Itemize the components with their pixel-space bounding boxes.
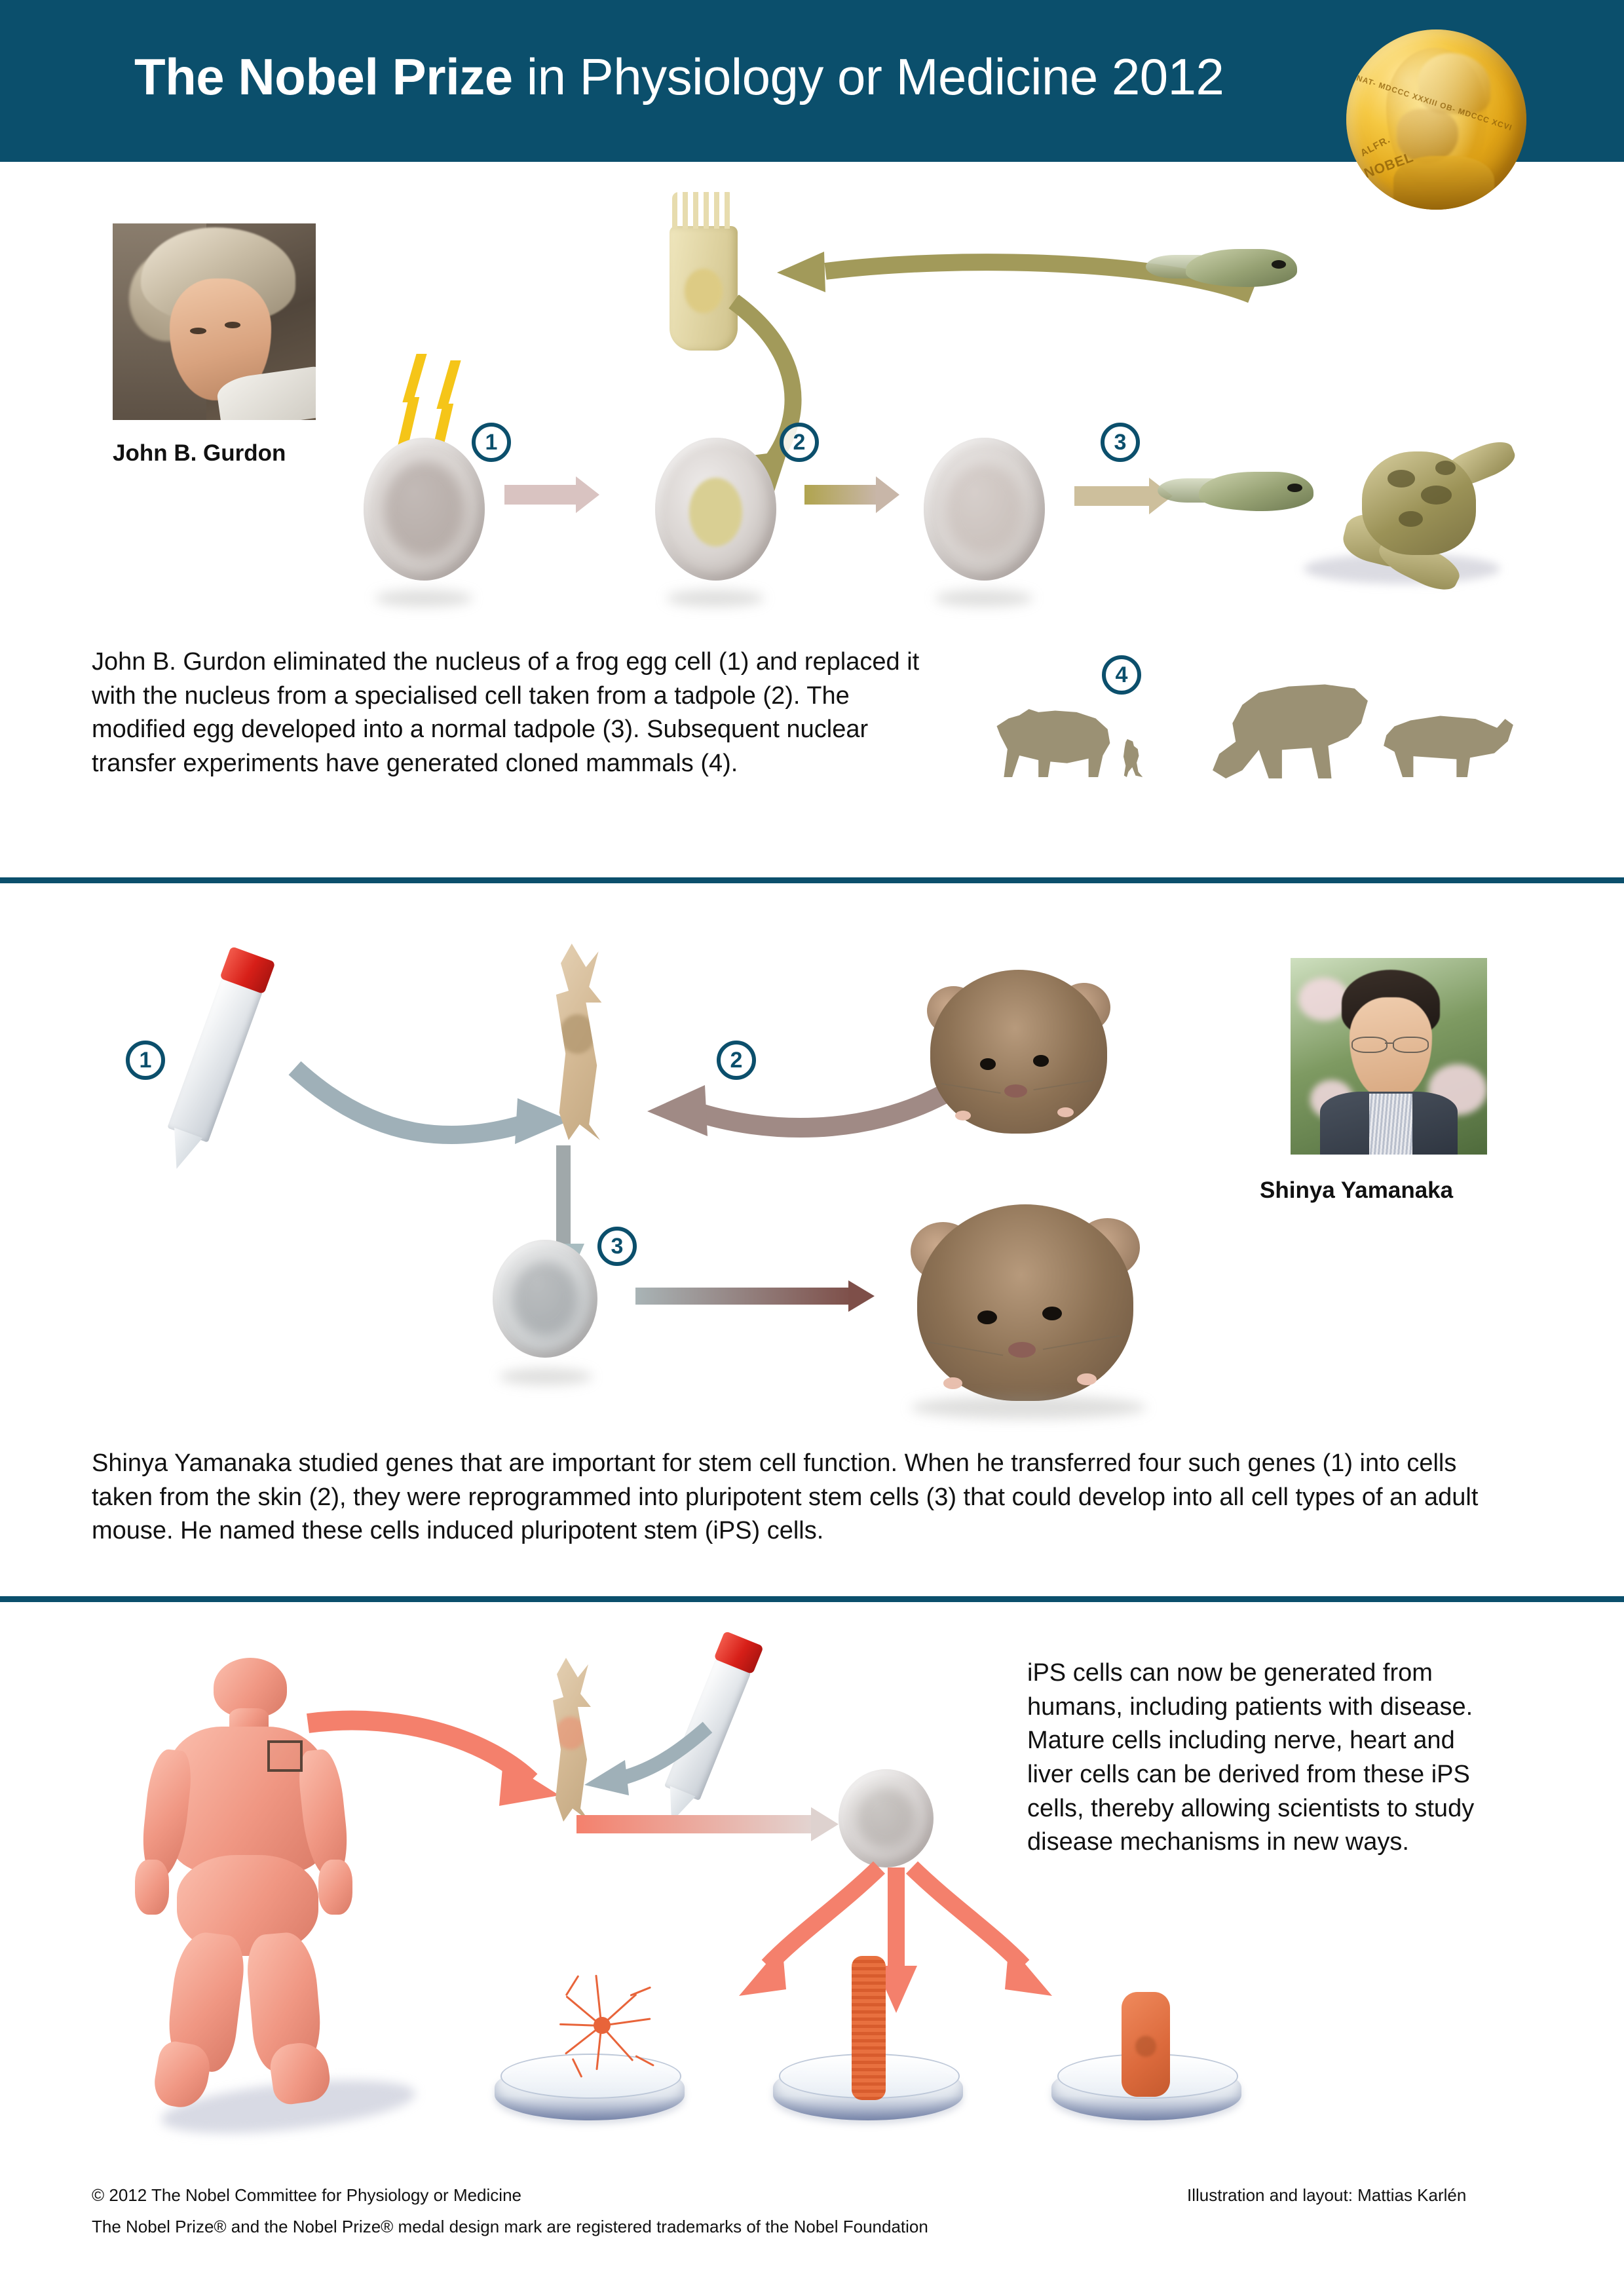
pluripotent-stem-cell	[493, 1240, 597, 1358]
egg-shadow-1	[375, 590, 473, 607]
mouse-shadow	[911, 1396, 1146, 1419]
cilia-icon	[672, 192, 735, 229]
footer-credit: Illustration and layout: Mattias Karlén	[1187, 2185, 1466, 2206]
arrow-stemcell-to-mouse	[635, 1288, 875, 1305]
panel3-ips-cell	[839, 1769, 934, 1867]
vial-tip	[161, 1128, 202, 1174]
panel2-step-marker-1: 1	[126, 1041, 165, 1080]
step-marker-4: 4	[1102, 655, 1141, 695]
step-marker-1: 1	[472, 423, 511, 462]
panel3-vial-cap	[713, 1631, 764, 1675]
mouse-silhouette	[1116, 739, 1144, 777]
panel1-caption: John B. Gurdon eliminated the nucleus of…	[92, 645, 943, 781]
adult-frog	[1336, 429, 1520, 586]
infographic-page: The Nobel Prize in Physiology or Medicin…	[0, 0, 1624, 2296]
medal-inscription-alfr: ALFR.	[1359, 134, 1392, 159]
gene-vial	[167, 974, 264, 1142]
page-title-bold: The Nobel Prize	[134, 48, 513, 105]
footer-trademark: The Nobel Prize® and the Nobel Prize® me…	[92, 2217, 928, 2237]
nobel-medal-icon: ALFR. NOBEL NAT- MDCCC XXXIII OB- MDCCC …	[1346, 29, 1526, 210]
gurdon-name-label: John B. Gurdon	[113, 440, 286, 467]
egg-shadow-2	[666, 590, 765, 607]
panel2-step-marker-2: 2	[717, 1041, 756, 1080]
result-mouse	[917, 1204, 1133, 1401]
egg-shadow-3	[935, 590, 1033, 607]
arrow-skin-to-cell	[295, 1697, 570, 1828]
source-tadpole	[1186, 249, 1297, 287]
arrow-to-ips-cell	[576, 1815, 839, 1833]
frog-egg-cell-3	[924, 438, 1045, 581]
nerve-cell	[544, 1966, 662, 2084]
panel2-step-marker-3: 3	[597, 1227, 637, 1266]
result-tadpole	[1199, 472, 1313, 511]
section-divider-1	[0, 877, 1624, 883]
panel3-caption: iPS cells can now be generated from huma…	[1027, 1656, 1479, 1860]
arrow-mouse-to-skin	[616, 1055, 956, 1160]
frog-egg-cell-2	[655, 438, 776, 581]
page-title-rest: in Physiology or Medicine 2012	[513, 48, 1224, 105]
cow-silhouette	[1209, 676, 1374, 778]
arrow-vial-to-cell-panel3	[576, 1717, 721, 1808]
step-marker-2: 2	[780, 423, 819, 462]
arrows-ips-differentiation	[708, 1861, 1074, 2044]
vial-cap	[219, 946, 275, 994]
footer-copyright: © 2012 The Nobel Committee for Physiolog…	[92, 2185, 521, 2206]
arrow-egg-to-enucleated	[504, 485, 599, 505]
yamanaka-portrait	[1291, 958, 1487, 1155]
heart-muscle-cell	[852, 1956, 886, 2100]
sheep-silhouette	[993, 700, 1112, 777]
page-title: The Nobel Prize in Physiology or Medicin…	[134, 47, 1224, 107]
pig-silhouette	[1381, 702, 1516, 777]
panel2-caption: Shinya Yamanaka studied genes that are i…	[92, 1447, 1520, 1548]
source-mouse	[930, 970, 1107, 1134]
stem-cell-shadow	[499, 1368, 592, 1385]
liver-cell	[1122, 1992, 1170, 2097]
frog-egg-cell-1	[364, 438, 485, 581]
yamanaka-name-label: Shinya Yamanaka	[1260, 1177, 1453, 1204]
section-divider-2	[0, 1596, 1624, 1602]
gurdon-portrait	[113, 223, 316, 420]
arrow-to-modified-egg	[804, 485, 899, 505]
step-marker-3: 3	[1101, 423, 1140, 462]
